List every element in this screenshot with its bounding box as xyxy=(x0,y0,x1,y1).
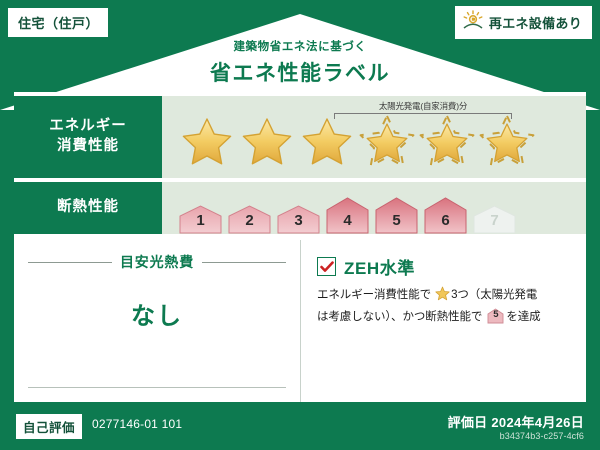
rule-right xyxy=(202,262,286,263)
energy-label-line2: 消費性能 xyxy=(57,137,119,157)
solar-generation-label: 太陽光発電(自家消費)分 xyxy=(334,100,512,112)
zeh-checkbox[interactable] xyxy=(317,257,336,276)
insulation-grade-scale: 1 2 3 xyxy=(162,182,517,234)
insulation-grade-7: 7 xyxy=(472,204,517,234)
zeh-desc-star-count: 3つ（太陽光発電 xyxy=(451,289,537,301)
grade-value: 3 xyxy=(294,212,302,234)
label-title: 建築物省エネ法に基づく 省エネ性能ラベル xyxy=(0,38,600,87)
renewable-equipment-label: 再エネ設備あり xyxy=(489,13,582,32)
evaluation-date: 評価日 2024年4月26日 xyxy=(448,412,584,431)
zeh-header: ZEH水準 xyxy=(317,254,576,279)
insulation-grade-5: 5 xyxy=(374,196,419,234)
star-filled-2 xyxy=(238,113,296,169)
title-main: 省エネ性能ラベル xyxy=(0,57,600,87)
insulation-grade-2: 2 xyxy=(227,204,272,234)
title-subtitle: 建築物省エネ法に基づく xyxy=(0,38,600,54)
grade-value: 4 xyxy=(343,212,351,234)
sun-icon xyxy=(462,10,484,35)
insulation-grade-4: 4 xyxy=(325,196,370,234)
rule-left xyxy=(28,262,112,263)
energy-label-line1: エネルギー xyxy=(49,117,127,137)
solar-generation-bracket: 太陽光発電(自家消費)分 xyxy=(334,100,512,119)
zeh-desc-part2: は考慮しない）、かつ断熱性能で xyxy=(317,311,482,323)
energy-rating-area: 太陽光発電(自家消費)分 xyxy=(162,96,586,178)
bracket-line xyxy=(334,113,512,119)
zeh-title: ZEH水準 xyxy=(344,254,415,279)
insulation-performance-label: 断熱性能 xyxy=(14,182,162,234)
grade-badge-icon: 5 xyxy=(487,308,504,324)
utility-cost-header: 目安光熱費 xyxy=(28,252,286,272)
evaluation-code: 0277146-01 101 xyxy=(92,417,182,431)
grade-value: 7 xyxy=(490,212,498,234)
star-solar-4 xyxy=(358,113,416,169)
grade-value: 5 xyxy=(392,212,400,234)
insulation-label-line1: 断熱性能 xyxy=(57,198,119,218)
star-solar-6 xyxy=(478,113,536,169)
utility-cost-panel: 目安光熱費 なし xyxy=(14,240,300,402)
zeh-desc-part1: エネルギー消費性能で xyxy=(317,289,431,301)
label-card: エネルギー 消費性能 太陽光発電(自家消費)分 xyxy=(14,92,586,402)
utility-cost-value: なし xyxy=(28,296,286,331)
insulation-grade-1: 1 xyxy=(178,204,223,234)
renewable-equipment-badge: 再エネ設備あり xyxy=(455,6,592,39)
label-footer: 自己評価 0277146-01 101 評価日 2024年4月26日 b3437… xyxy=(0,402,600,450)
utility-cost-title: 目安光熱費 xyxy=(120,252,194,272)
insulation-grade-6: 6 xyxy=(423,196,468,234)
insulation-performance-row: 断熱性能 1 xyxy=(14,182,586,234)
evaluation-uuid: b34374b3-c257-4cf6 xyxy=(500,431,584,441)
energy-label-root: 住宅（住戸） 再エネ設備あり 建築物省エネ法に基づく 省エネ性能ラベル xyxy=(0,0,600,450)
building-type-chip: 住宅（住戸） xyxy=(8,8,108,37)
grade-value: 2 xyxy=(245,212,253,234)
grade-value: 6 xyxy=(441,212,449,234)
energy-performance-row: エネルギー 消費性能 太陽光発電(自家消費)分 xyxy=(14,96,586,178)
grade-value: 1 xyxy=(196,212,204,234)
zeh-panel: ZEH水準 エネルギー消費性能で 3つ（太陽光発電 は考慮しない）、かつ断熱性能… xyxy=(300,240,586,402)
star-icon xyxy=(435,286,450,308)
star-filled-1 xyxy=(178,113,236,169)
grade-badge-value: 5 xyxy=(487,308,504,324)
utility-cost-bottom-rule xyxy=(28,387,286,388)
insulation-grade-3: 3 xyxy=(276,204,321,234)
lower-panels: 目安光熱費 なし ZEH水準 エネルギー消費性能で xyxy=(14,240,586,402)
star-solar-5 xyxy=(418,113,476,169)
evaluation-type-chip: 自己評価 xyxy=(16,414,82,439)
energy-performance-label: エネルギー 消費性能 xyxy=(14,96,162,178)
star-filled-3 xyxy=(298,113,356,169)
insulation-rating-area: 1 2 3 xyxy=(162,182,586,234)
energy-star-rating xyxy=(162,113,536,169)
zeh-desc-part3: を達成 xyxy=(506,311,540,323)
zeh-description: エネルギー消費性能で 3つ（太陽光発電 は考慮しない）、かつ断熱性能で 5 を達… xyxy=(317,286,576,326)
check-icon xyxy=(320,261,334,273)
